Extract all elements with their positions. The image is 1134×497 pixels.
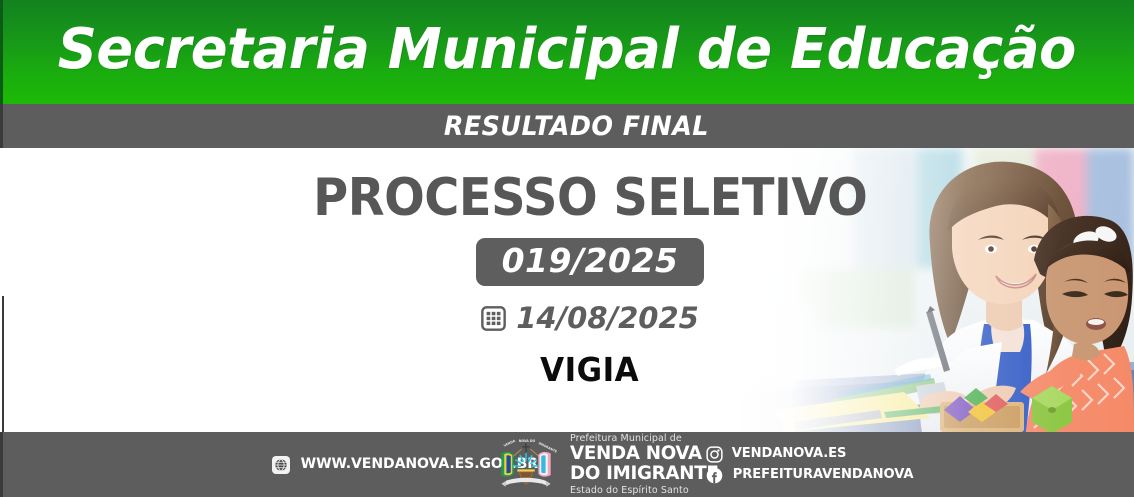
facebook-icon — [706, 467, 723, 484]
left-divider — [2, 296, 4, 432]
brand-line-1: VENDA NOVA — [570, 444, 719, 463]
calendar-icon — [481, 306, 506, 331]
svg-text:IMIGRANTE: IMIGRANTE — [538, 441, 558, 453]
facebook-label: PREFEITURAVENDANOVA — [733, 468, 914, 482]
subheader-label: RESULTADO FINAL — [425, 113, 709, 140]
instagram-label: VENDANOVA.ES — [732, 447, 847, 461]
svg-text:NOVA DO: NOVA DO — [519, 438, 536, 442]
social-links: VENDANOVA.ES PREFEITURAVENDANOVA — [706, 446, 916, 484]
page-title: Secretaria Municipal de Educação — [58, 22, 1076, 82]
process-number-label: 019/2025 — [502, 241, 679, 280]
svg-text:31 DE MAIO DE 1988: 31 DE MAIO DE 1988 — [509, 482, 543, 486]
date-row: 14/08/2025 — [481, 304, 699, 333]
brand-text-block: Prefeitura Municipal de VENDA NOVA DO IM… — [570, 434, 725, 496]
municipality-brand: VENDA NOVA DO IMIGRANTE — [489, 434, 725, 496]
brand-line-2: DO IMIGRANTE — [570, 464, 719, 483]
main-content: PROCESSO SELETIVO 019/2025 — [198, 148, 982, 432]
subheader-band: RESULTADO FINAL — [0, 104, 1134, 148]
date-label: 14/08/2025 — [516, 304, 699, 333]
header-band: Secretaria Municipal de Educação — [0, 0, 1134, 104]
poster-root: Secretaria Municipal de Educação RESULTA… — [0, 0, 1134, 497]
process-title: PROCESSO SELETIVO — [313, 172, 867, 224]
role-label: VIGIA — [541, 353, 640, 386]
brand-state: Estado do Espírito Santo — [570, 486, 725, 496]
process-number-badge: 019/2025 — [476, 238, 705, 286]
social-row-instagram[interactable]: VENDANOVA.ES — [706, 446, 916, 463]
social-row-facebook[interactable]: PREFEITURAVENDANOVA — [706, 467, 916, 484]
globe-icon — [272, 456, 290, 474]
svg-text:VENDA: VENDA — [503, 438, 516, 447]
coat-of-arms-icon: VENDA NOVA DO IMIGRANTE — [489, 436, 563, 494]
body-area: PROCESSO SELETIVO 019/2025 — [0, 148, 1134, 432]
footer-band: WWW.VENDANOVA.ES.GOV.BR VENDA NOVA DO IM… — [0, 432, 1134, 497]
instagram-icon — [706, 446, 723, 463]
